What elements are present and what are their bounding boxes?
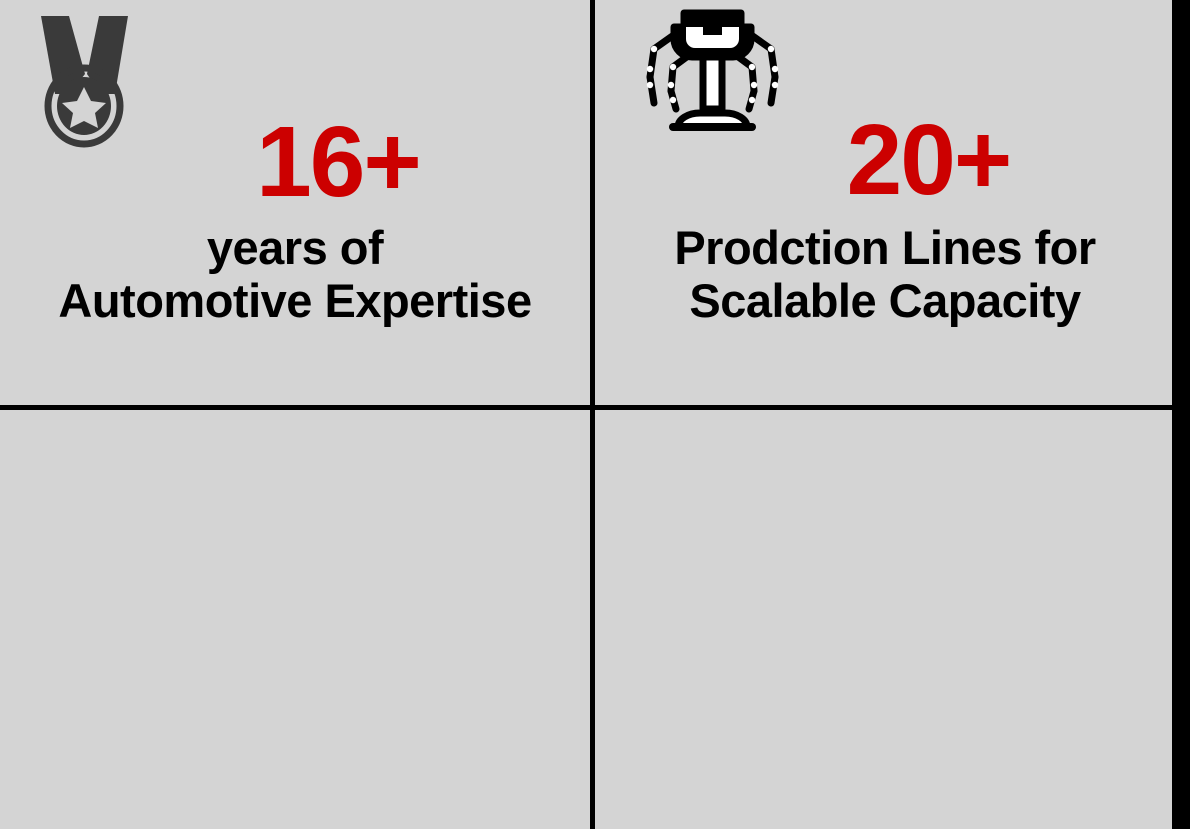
stat-caption: years of Automotive Expertise	[8, 222, 582, 327]
stat-card-production-lines: 20+ Prodction Lines for Scalable Capacit…	[595, 0, 1172, 405]
stat-card-years-experience: 16+ years of Automotive Expertise	[0, 0, 590, 405]
horizontal-divider	[0, 405, 1172, 410]
stat-number: 20+	[595, 110, 1172, 210]
stat-card-countries-served: 30+ Countries Served with Global Standar…	[0, 410, 590, 829]
vertical-divider	[590, 0, 595, 829]
stat-card-customer-satisfaction: 99% Customer Satisfaction Rate	[595, 410, 1172, 829]
stat-number: 16+	[0, 112, 590, 212]
stats-infographic: 16+ years of Automotive Expertise	[0, 0, 1190, 829]
right-edge-band	[1172, 0, 1190, 829]
stat-caption: Prodction Lines for Scalable Capacity	[605, 222, 1165, 327]
